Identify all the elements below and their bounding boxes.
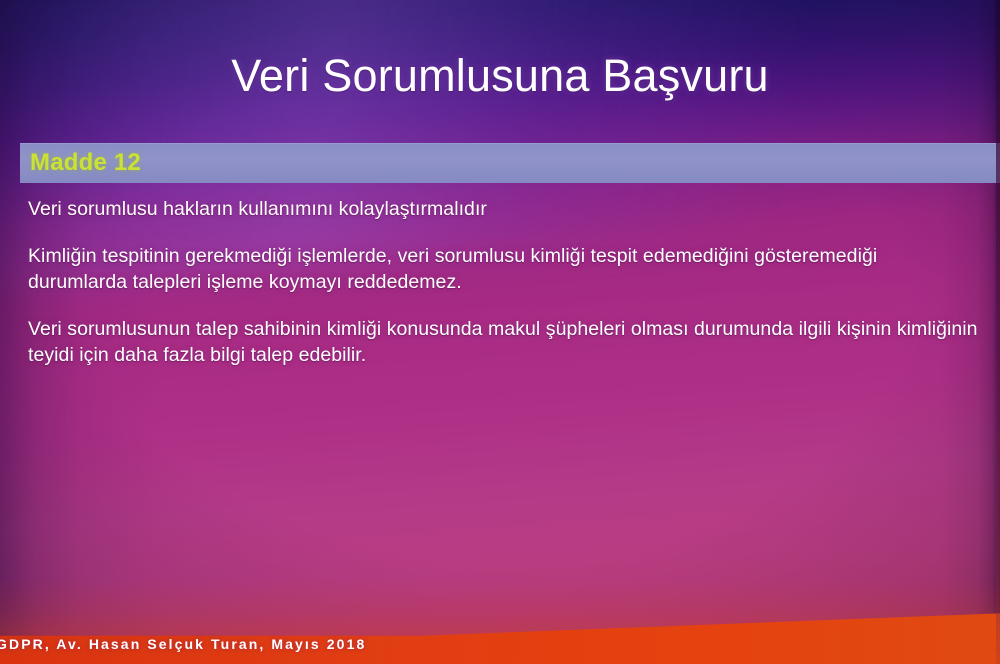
- section-heading-band: Madde 12: [20, 143, 1000, 183]
- presentation-slide: Veri Sorumlusuna Başvuru Madde 12 Veri s…: [0, 0, 1000, 664]
- body-paragraph-1: Veri sorumlusu hakların kullanımını kola…: [28, 196, 958, 222]
- slide-right-edge: [996, 0, 1000, 664]
- slide-body: Veri sorumlusu hakların kullanımını kola…: [28, 196, 958, 368]
- slide-title: Veri Sorumlusuna Başvuru: [0, 50, 1000, 102]
- body-paragraph-2: Kimliğin tespitinin gerekmediği işlemler…: [28, 243, 908, 295]
- section-heading-label: Madde 12: [30, 149, 141, 177]
- body-paragraph-3: Veri sorumlusunun talep sahibinin kimliğ…: [28, 316, 980, 368]
- slide-footer: GDPR, Av. Hasan Selçuk Turan, Mayıs 2018: [0, 636, 366, 652]
